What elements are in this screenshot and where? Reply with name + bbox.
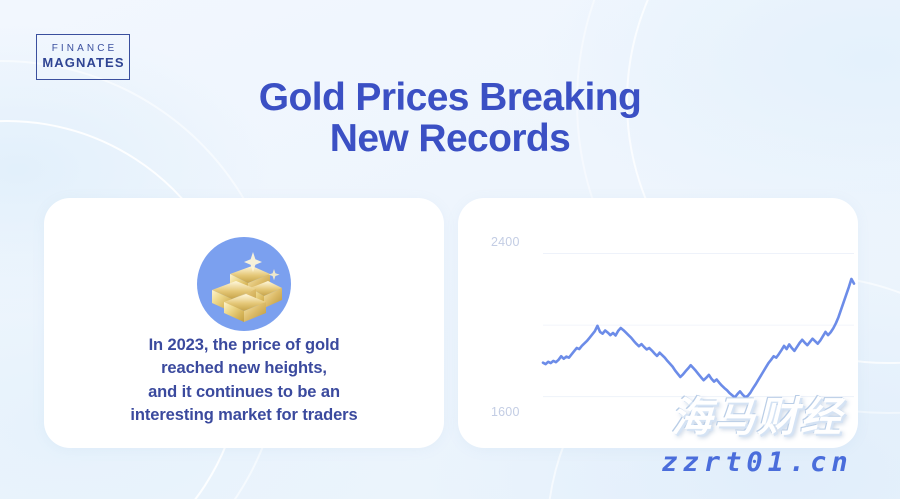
page-title-line-2: New Records <box>0 119 900 160</box>
gold-bars-icon <box>196 236 292 332</box>
price-line <box>543 279 854 397</box>
summary-text: In 2023, the price of gold reached new h… <box>44 334 444 428</box>
summary-text-line-4: interesting market for traders <box>44 404 444 427</box>
watermark-url-text: zzrt01.cn <box>622 449 892 476</box>
gold-price-line-chart[interactable]: 2400 1600 <box>458 198 858 448</box>
summary-text-line-1: In 2023, the price of gold <box>44 334 444 357</box>
infographic-canvas: FINANCE MAGNATES Gold Prices Breaking Ne… <box>0 0 900 499</box>
finance-magnates-logo[interactable]: FINANCE MAGNATES <box>36 34 130 80</box>
logo-line-finance: FINANCE <box>49 43 118 56</box>
page-title-line-1: Gold Prices Breaking <box>0 78 900 119</box>
page-title: Gold Prices Breaking New Records <box>0 78 900 160</box>
summary-text-line-3: and it continues to be an <box>44 381 444 404</box>
chart-card: 2400 1600 <box>458 198 858 448</box>
y-axis-tick-2400: 2400 <box>491 235 520 249</box>
logo-line-magnates: MAGNATES <box>41 55 124 71</box>
summary-text-line-2: reached new heights, <box>44 357 444 380</box>
y-axis-tick-1600: 1600 <box>491 405 520 419</box>
summary-card: In 2023, the price of gold reached new h… <box>44 198 444 448</box>
